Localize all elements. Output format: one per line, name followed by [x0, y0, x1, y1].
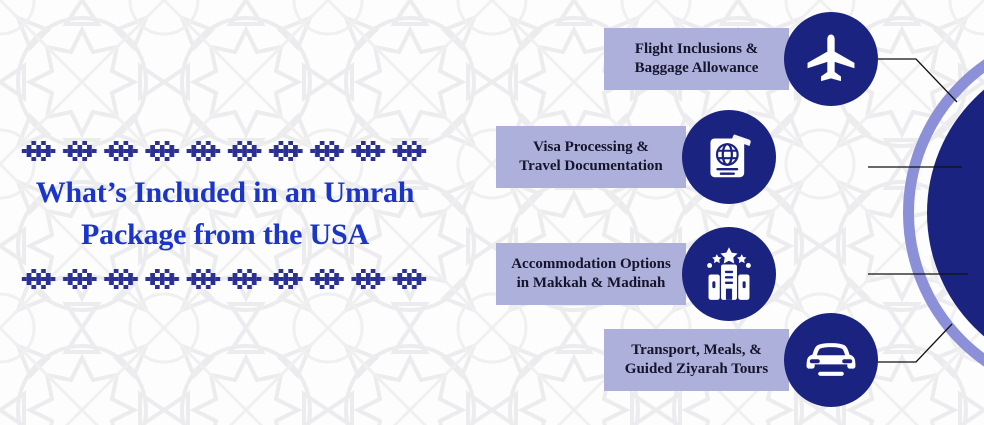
item-visa-label: Visa Processing & Travel Documentation [496, 126, 686, 188]
item-flight-label: Flight Inclusions & Baggage Allowance [604, 28, 789, 90]
page-title-line-1: What’s Included in an Umrah [0, 172, 450, 214]
item-transport-icon-circle[interactable] [784, 313, 878, 407]
page-title-line-2: Package from the USA [0, 214, 450, 256]
item-visa-label-line-2: Travel Documentation [519, 157, 662, 176]
page-title: What’s Included in an Umrah Package from… [0, 172, 450, 256]
car-icon [801, 330, 861, 390]
item-transport-label: Transport, Meals, & Guided Ziyarah Tours [604, 329, 789, 391]
airplane-icon [803, 31, 859, 87]
item-accommodation-icon-circle[interactable] [682, 227, 776, 321]
item-accommodation-label-line-1: Accommodation Options [511, 255, 671, 274]
item-flight-icon-circle[interactable] [784, 12, 878, 106]
umrah-package-infographic: What’s Included in an Umrah Package from… [0, 0, 984, 425]
passport-globe-icon [702, 130, 756, 184]
item-flight-label-line-2: Baggage Allowance [635, 59, 759, 78]
item-transport-label-line-1: Transport, Meals, & [631, 341, 762, 360]
item-visa-label-line-1: Visa Processing & [533, 138, 649, 157]
item-visa-icon-circle[interactable] [682, 110, 776, 204]
item-transport-label-line-2: Guided Ziyarah Tours [625, 360, 768, 379]
item-flight-label-line-1: Flight Inclusions & [635, 40, 758, 59]
title-panel: What’s Included in an Umrah Package from… [0, 0, 450, 425]
item-accommodation-label-line-2: in Makkah & Madinah [517, 274, 666, 293]
hotel-stars-icon [700, 245, 758, 303]
ornament-divider-bottom [18, 268, 430, 290]
ornament-divider-top [18, 140, 430, 162]
item-accommodation-label: Accommodation Options in Makkah & Madina… [496, 243, 686, 305]
